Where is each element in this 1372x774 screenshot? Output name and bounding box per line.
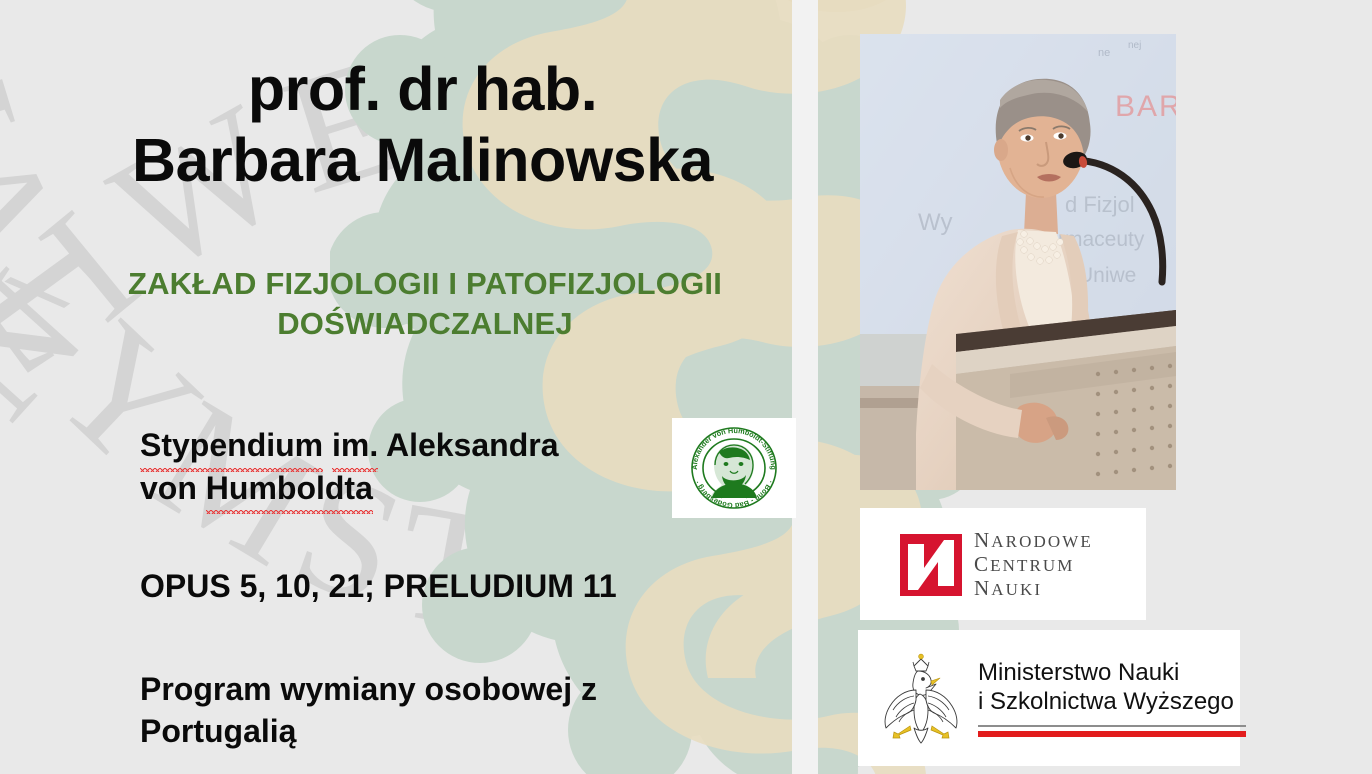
- person-title-prefix: prof. dr hab.: [0, 58, 845, 121]
- ncn-mark-icon: [900, 534, 962, 596]
- award-portugal-line-2: Portugalią: [140, 710, 740, 753]
- misspelled-word-im: im.: [332, 424, 378, 467]
- mnisw-red-rule: [978, 731, 1246, 737]
- ncn-word-narodowe: NARODOWE: [974, 530, 1093, 551]
- svg-text:Wy: Wy: [918, 209, 952, 236]
- mnisw-logo-box: Ministerstwo Nauki i Szkolnictwa Wyższeg…: [858, 630, 1240, 766]
- svg-text:BARB: BARB: [1115, 90, 1176, 123]
- misspelled-word-stypendium: Stypendium: [140, 424, 323, 467]
- ncn-wordmark: NARODOWE CENTRUM NAUKI: [974, 530, 1093, 599]
- department-line-2: DOŚWIADCZALNEJ: [40, 304, 810, 344]
- awards-list: Stypendium im. Aleksandra von Humboldta …: [140, 424, 840, 753]
- person-full-name: Barbara Malinowska: [0, 129, 845, 192]
- svg-text:d Fizjol: d Fizjol: [1065, 192, 1135, 217]
- ncn-word-centrum: CENTRUM: [974, 554, 1093, 575]
- department-name: ZAKŁAD FIZJOLOGII I PATOFIZJOLOGII DOŚWI…: [40, 264, 810, 343]
- slide-text-column: prof. dr hab. Barbara Malinowska ZAKŁAD …: [0, 0, 845, 774]
- award-humboldt-line-1: Stypendium im. Aleksandra: [140, 424, 670, 467]
- mnisw-wordmark: Ministerstwo Nauki i Szkolnictwa Wyższeg…: [978, 659, 1246, 737]
- space-1: [323, 427, 332, 463]
- award-humboldt-line-2: von Humboldta: [140, 467, 670, 510]
- svg-text:ne: ne: [1098, 47, 1110, 59]
- award-humboldt-scholarship: Stypendium im. Aleksandra von Humboldta: [140, 424, 670, 509]
- award-portugal-exchange: Program wymiany osobowej z Portugalią: [140, 668, 740, 753]
- award-humboldt-rest-1: Aleksandra: [378, 427, 558, 463]
- ncn-word-nauki: NAUKI: [974, 578, 1093, 599]
- mnisw-gray-rule: [978, 725, 1246, 727]
- mnisw-line-1: Ministerstwo Nauki: [978, 659, 1246, 687]
- misspelled-word-humboldta: Humboldta: [206, 467, 373, 510]
- mnisw-line-2: i Szkolnictwa Wyższego: [978, 688, 1246, 716]
- presentation-slide: UNIWERSYTET BIAŁYMST: [0, 0, 1372, 774]
- mnisw-rules: [978, 725, 1246, 737]
- award-portugal-line-1: Program wymiany osobowej z: [140, 668, 740, 711]
- award-ncn-grants: OPUS 5, 10, 21; PRELUDIUM 11: [140, 565, 840, 608]
- person-name-block: prof. dr hab. Barbara Malinowska: [0, 58, 845, 193]
- polish-eagle-icon: [880, 650, 962, 746]
- ncn-logo-box: NARODOWE CENTRUM NAUKI: [860, 508, 1146, 620]
- department-line-1: ZAKŁAD FIZJOLOGII I PATOFIZJOLOGII: [40, 264, 810, 304]
- award-humboldt-rest-2: von: [140, 470, 206, 506]
- speaker-photo: ne nej BARB d Fizjol Wy rmaceuty Uniwe: [860, 34, 1176, 490]
- svg-text:nej: nej: [1128, 40, 1141, 51]
